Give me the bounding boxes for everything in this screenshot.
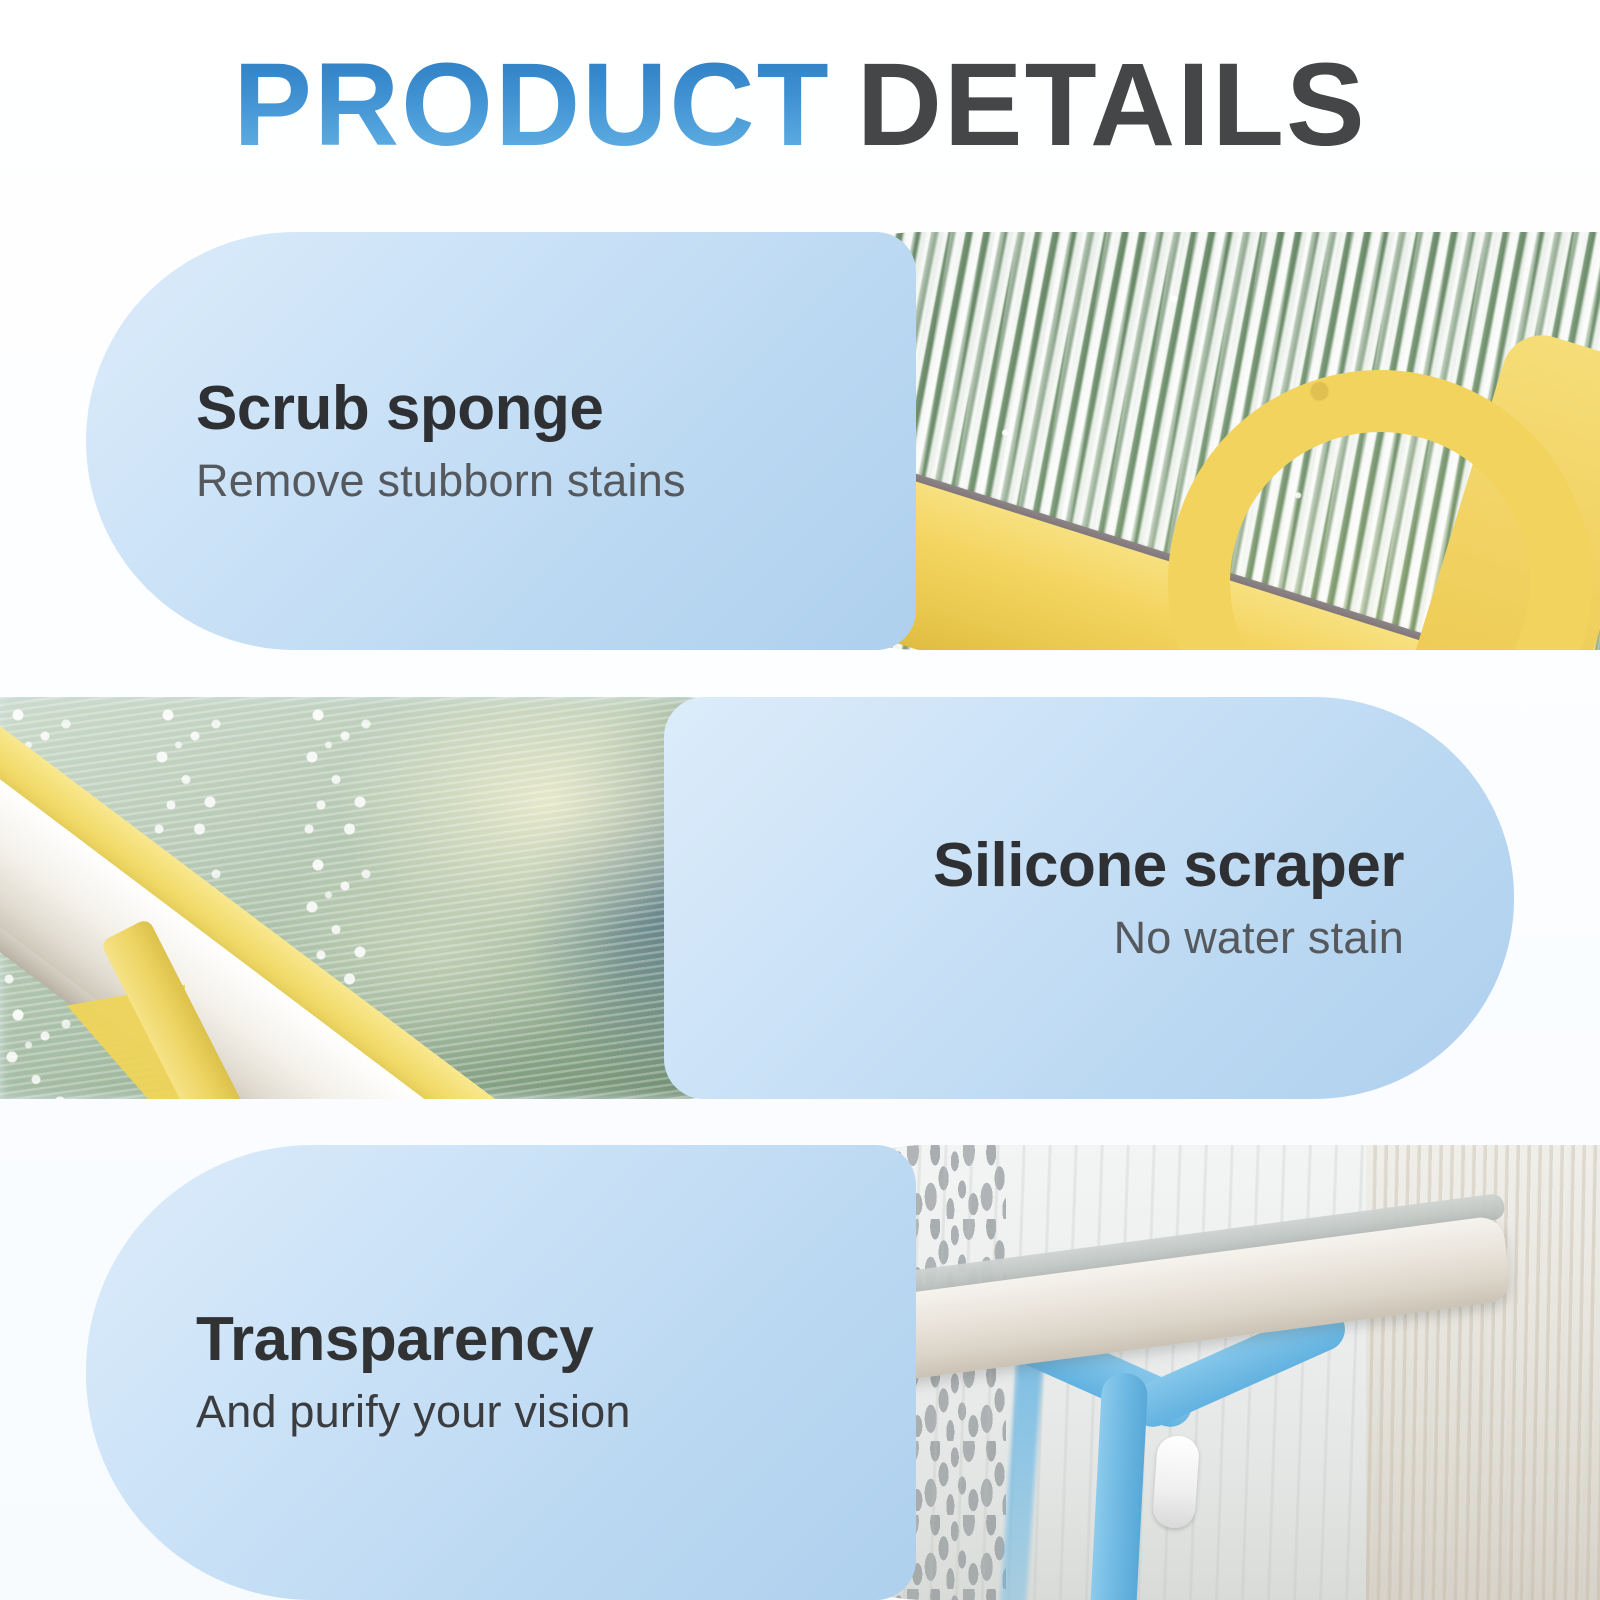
feature-heading: Transparency <box>196 1307 846 1372</box>
feature-subtext: No water stain <box>1114 912 1404 964</box>
page-title: PRODUCTDETAILS <box>0 46 1600 164</box>
squeegee-hook-knob <box>1151 1435 1199 1530</box>
feature-panel-scrub-sponge: Scrub sponge Remove stubborn stains <box>86 232 916 650</box>
infographic-page: PRODUCTDETAILS Scrub sponge Remove stubb… <box>0 0 1600 1600</box>
feature-row-transparency: Transparency And purify your vision <box>0 1145 1600 1600</box>
feature-row-scrub-sponge: Scrub sponge Remove stubborn stains <box>0 232 1600 650</box>
feature-subtext: Remove stubborn stains <box>196 455 846 507</box>
feature-panel-silicone-scraper: Silicone scraper No water stain <box>664 697 1514 1099</box>
feature-panel-transparency: Transparency And purify your vision <box>86 1145 916 1600</box>
feature-heading: Silicone scraper <box>933 833 1404 898</box>
title-secondary-word: DETAILS <box>857 46 1367 164</box>
title-primary-word: PRODUCT <box>233 46 830 164</box>
feature-row-silicone-scraper: Silicone scraper No water stain <box>0 697 1600 1099</box>
feature-subtext: And purify your vision <box>196 1386 846 1438</box>
feature-heading: Scrub sponge <box>196 376 846 441</box>
